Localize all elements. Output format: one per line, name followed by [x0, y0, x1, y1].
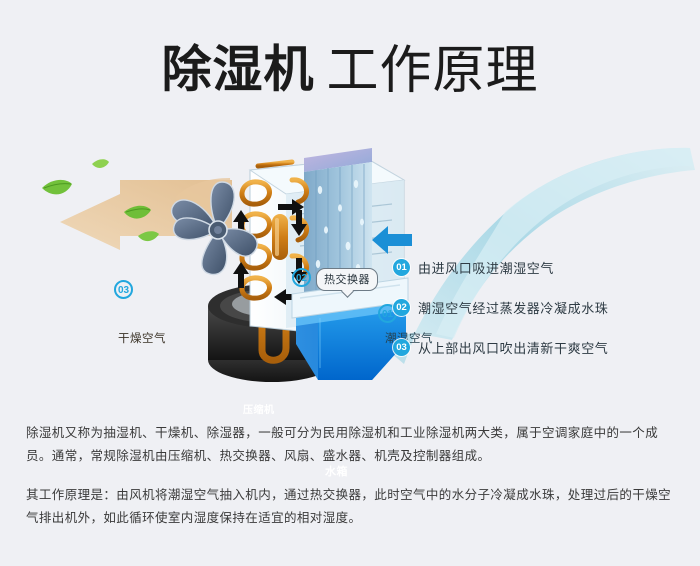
description-paragraph-1: 除湿机又称为抽湿机、干燥机、除湿器，一般可分为民用除湿机和工业除湿机两大类，属于…: [26, 422, 676, 468]
step-item-2: 02 潮湿空气经过蒸发器冷凝成水珠: [393, 298, 683, 317]
diagram-label-dry-air: 干燥空气: [118, 330, 166, 346]
step-text-2: 潮湿空气经过蒸发器冷凝成水珠: [418, 298, 608, 317]
accumulator: [272, 214, 288, 260]
page-title-part2: 工作原理: [326, 42, 538, 100]
page-title-part1: 除湿机: [161, 42, 314, 98]
page-title: 除湿机工作原理: [0, 28, 700, 103]
heat-exchanger-label: 热交换器: [324, 274, 370, 286]
heat-exchanger-callout: 热交换器: [316, 268, 378, 291]
diagram-label-compressor: 压缩机: [243, 401, 275, 416]
step-text-1: 由进风口吸进潮湿空气: [418, 258, 554, 277]
step-list: 01 由进风口吸进潮湿空气 02 潮湿空气经过蒸发器冷凝成水珠 03 从上部出风…: [393, 258, 683, 378]
step-badge-3: 03: [393, 339, 410, 356]
step-badge-1: 01: [393, 259, 410, 276]
description-block: 除湿机又称为抽湿机、干燥机、除湿器，一般可分为民用除湿机和工业除湿机两大类，属于…: [26, 422, 676, 530]
step-item-3: 03 从上部出风口吹出清新干爽空气: [393, 338, 683, 357]
diagram-badge-dry: 03: [114, 280, 133, 299]
description-paragraph-2: 其工作原理是：由风机将潮湿空气抽入机内，通过热交换器，此时空气中的水分子冷凝成水…: [26, 484, 676, 530]
step-text-3: 从上部出风口吹出清新干爽空气: [418, 338, 608, 357]
diagram-badge-heat-exchanger: 02: [292, 268, 311, 287]
step-badge-2: 02: [393, 299, 410, 316]
step-item-1: 01 由进风口吸进潮湿空气: [393, 258, 683, 277]
